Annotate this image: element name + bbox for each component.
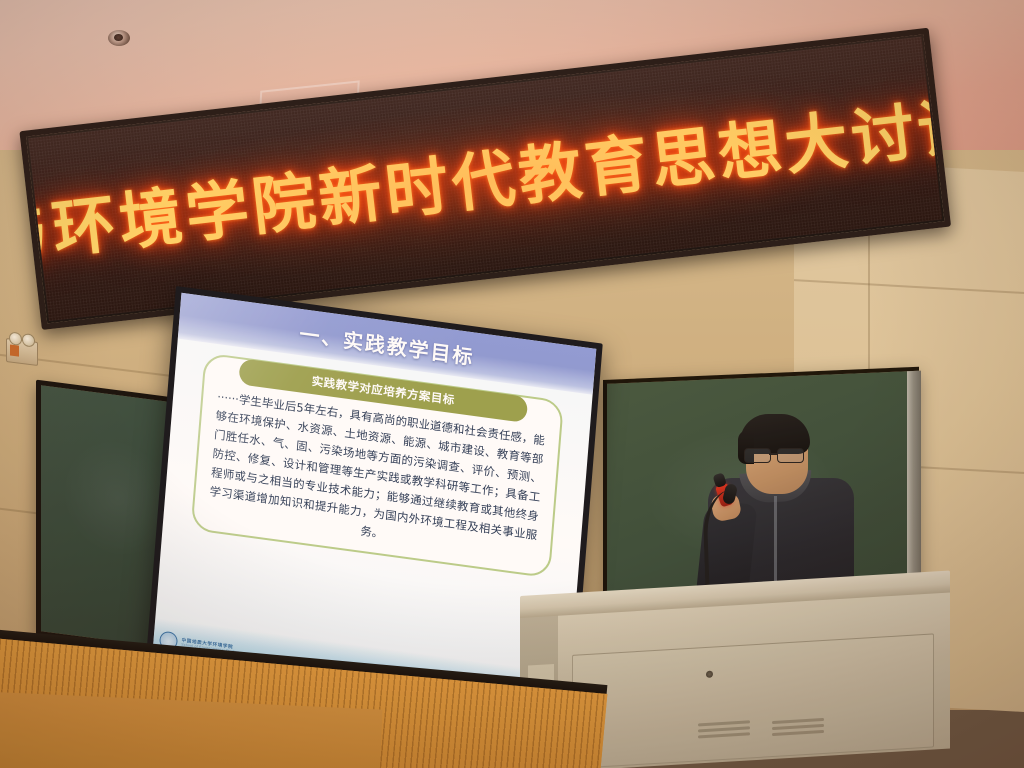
emergency-exit-light-icon bbox=[6, 338, 38, 366]
slide-callout-box: 实践教学对应培养方案目标 ······学生毕业后5年左右，具有高尚的职业道德和社… bbox=[190, 352, 564, 578]
podium-body bbox=[558, 590, 950, 768]
glasses-icon bbox=[744, 448, 808, 461]
downlight-icon bbox=[108, 30, 130, 46]
lecture-hall-scene: 新能源与环境学院新时代教育思想大讨论报告会 一、实践教学目标 实践教学对应培养方… bbox=[0, 0, 1024, 768]
podium-front-panel bbox=[572, 633, 934, 768]
